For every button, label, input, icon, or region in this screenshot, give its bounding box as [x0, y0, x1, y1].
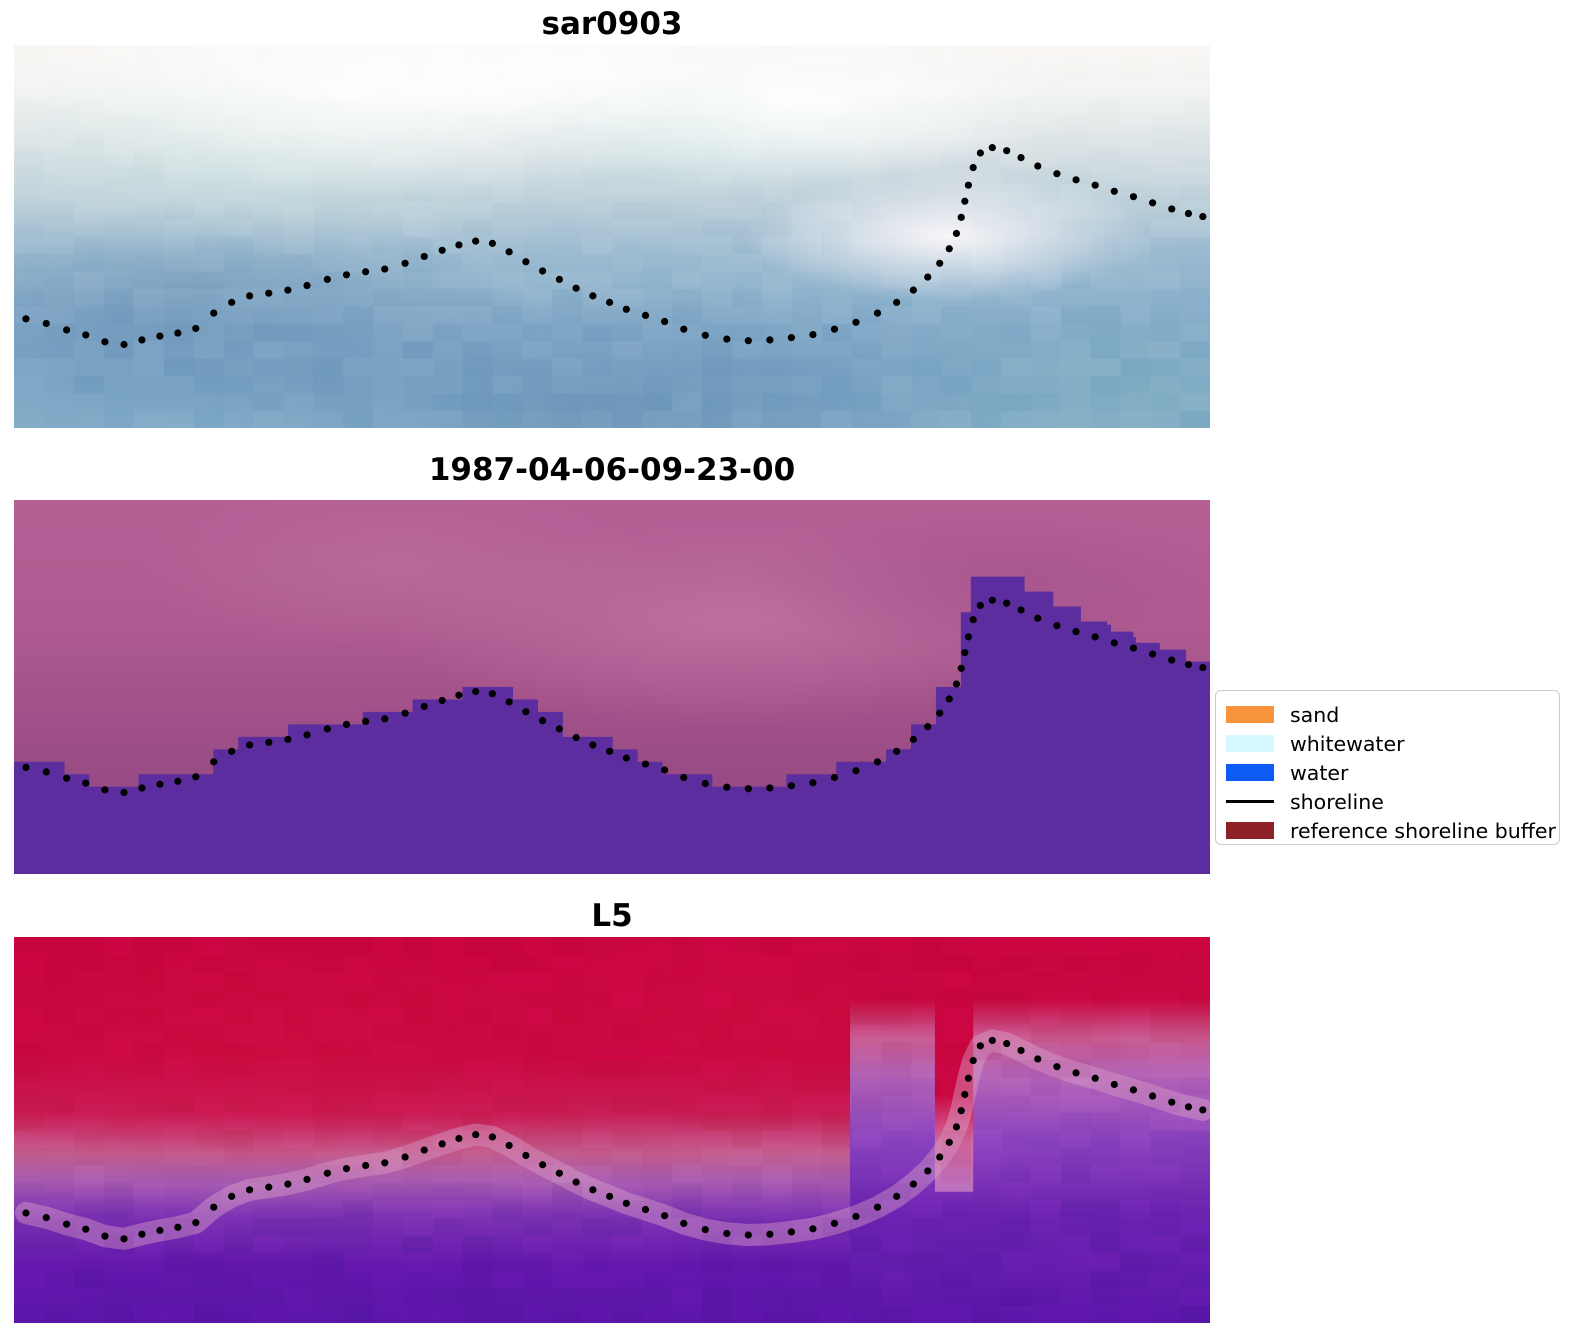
legend-label-reference-buffer: reference shoreline buffer	[1290, 819, 1556, 843]
legend-item-reference-buffer[interactable]: reference shoreline buffer	[1226, 816, 1547, 845]
panel-title-rgb: sar0903	[14, 6, 1210, 42]
shoreline-dots-classification	[14, 500, 1210, 874]
panel-title-classification: 1987-04-06-09-23-00	[14, 452, 1210, 488]
legend-label-whitewater: whitewater	[1290, 732, 1405, 756]
legend-label-shoreline: shoreline	[1290, 790, 1384, 814]
legend-item-water[interactable]: water	[1226, 758, 1547, 787]
panel-classification-image[interactable]	[14, 500, 1210, 874]
shoreline-dots-index	[14, 937, 1210, 1323]
legend-item-shoreline[interactable]: shoreline	[1226, 787, 1547, 816]
legend-label-water: water	[1290, 761, 1348, 785]
shoreline-line-icon	[1226, 793, 1274, 810]
panel-title-index: L5	[14, 898, 1210, 934]
panel-index-image[interactable]	[14, 937, 1210, 1323]
sand-swatch	[1226, 706, 1274, 723]
figure-canvas: sar0903	[0, 0, 1580, 1337]
shoreline-dots-rgb	[14, 45, 1210, 428]
legend-label-sand: sand	[1290, 703, 1339, 727]
whitewater-swatch	[1226, 735, 1274, 752]
legend-item-sand[interactable]: sand	[1226, 700, 1547, 729]
panel-rgb-image[interactable]	[14, 45, 1210, 428]
legend-box: sand whitewater water shoreline referenc…	[1215, 690, 1560, 845]
water-swatch	[1226, 764, 1274, 781]
legend-item-whitewater[interactable]: whitewater	[1226, 729, 1547, 758]
reference-buffer-swatch	[1226, 822, 1274, 839]
